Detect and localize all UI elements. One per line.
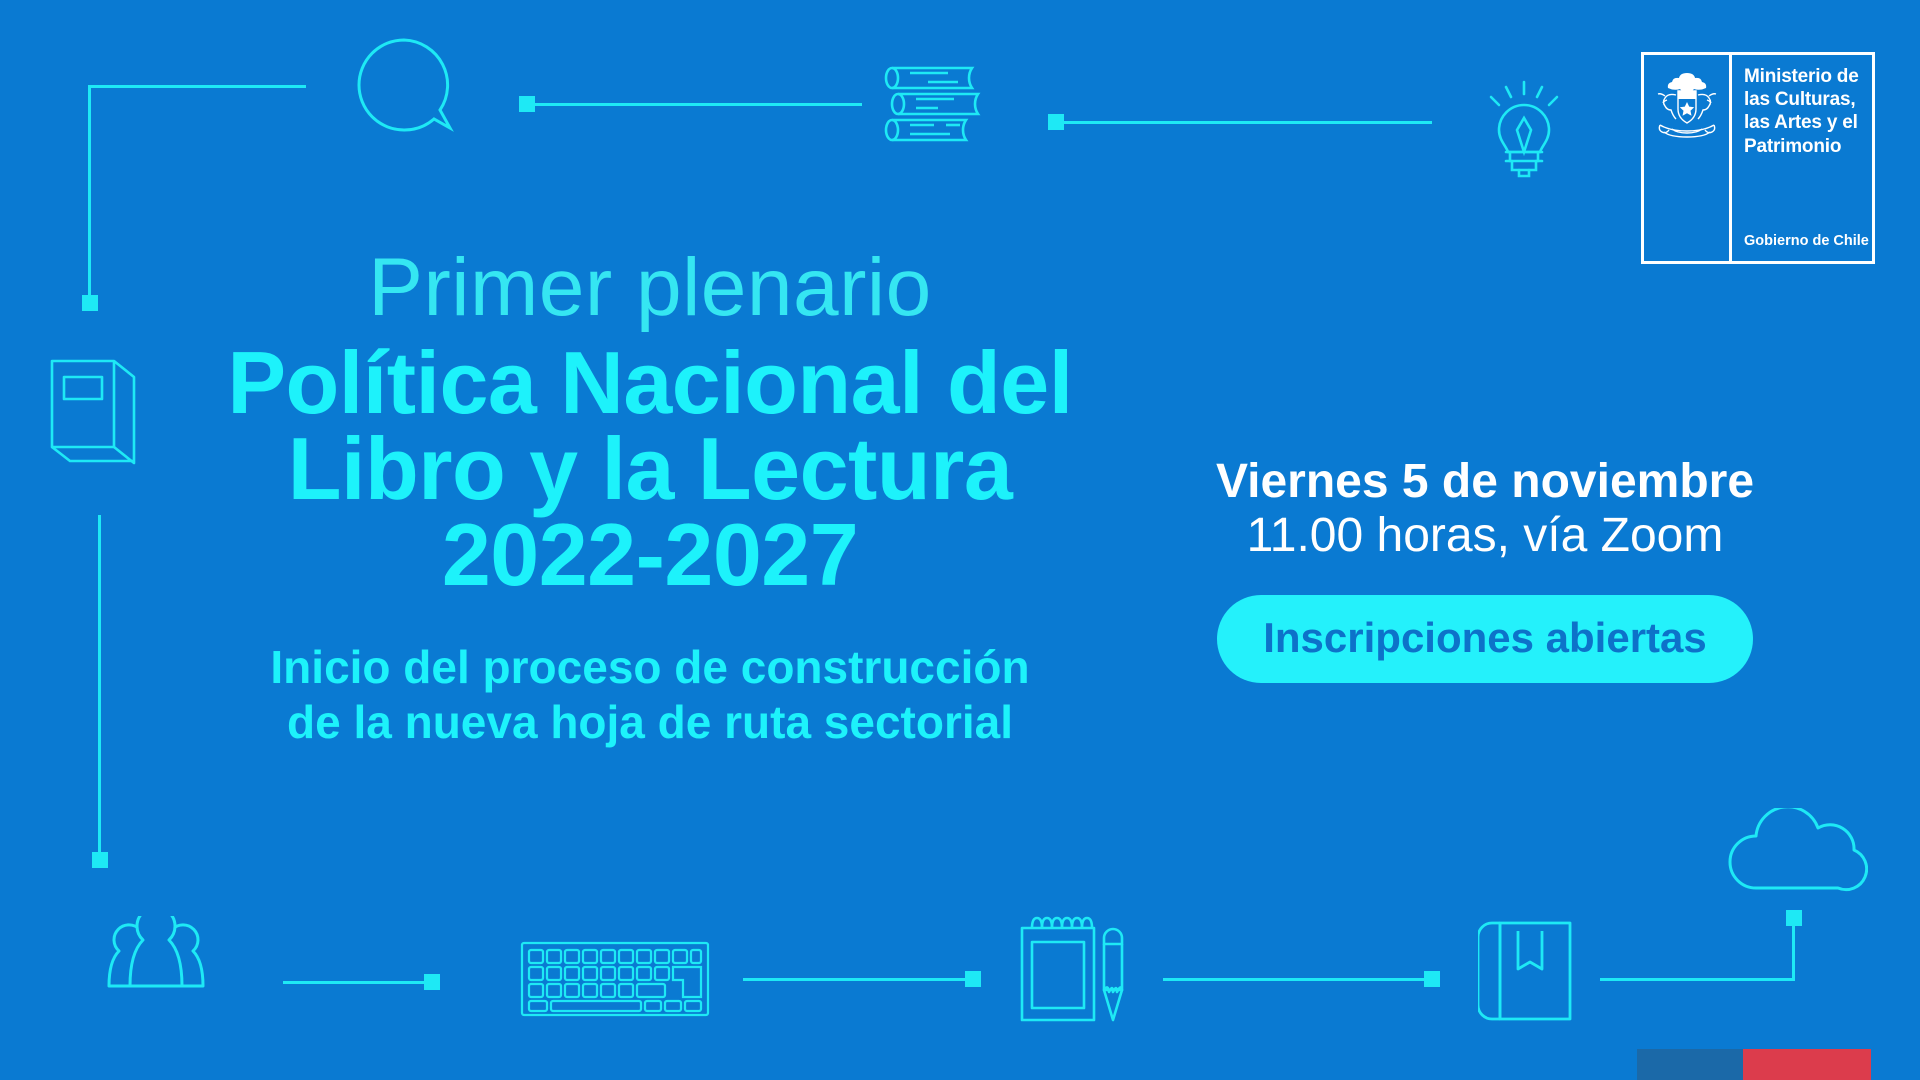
event-info-block: Viernes 5 de noviembre 11.00 horas, vía … xyxy=(1175,455,1795,683)
notepad-pencil-icon xyxy=(1018,912,1136,1026)
logo-title-line-4: Patrimonio xyxy=(1744,135,1872,158)
connector-line-notepad-to-book xyxy=(1163,978,1428,981)
connector-line-top-left xyxy=(88,85,306,88)
speech-bubble-icon xyxy=(352,36,462,146)
bookmarked-book-icon xyxy=(1478,919,1578,1023)
connector-node-people-to-keyboard xyxy=(424,974,440,990)
logo-title: Ministerio de las Culturas, las Artes y … xyxy=(1744,65,1872,158)
ministry-logo: Ministerio de las Culturas, las Artes y … xyxy=(1641,52,1875,264)
page-title-line-3: 2022-2027 xyxy=(0,512,1300,598)
connector-node-left-lower xyxy=(92,852,108,868)
eyebrow-text: Primer plenario xyxy=(0,246,1300,330)
keyboard-icon xyxy=(520,941,710,1017)
blue-stripe xyxy=(1637,1049,1743,1080)
connector-line-books-to-bulb xyxy=(1056,121,1432,124)
connector-line-people-to-keyboard xyxy=(283,981,428,984)
page-subtitle-line-1: Inicio del proceso de construcción xyxy=(0,640,1300,694)
book-stack-icon xyxy=(884,62,988,146)
logo-government-label: Gobierno de Chile xyxy=(1744,233,1872,253)
poster-canvas: Primer plenario Política Nacional del Li… xyxy=(0,0,1920,1080)
logo-text-cell: Ministerio de las Culturas, las Artes y … xyxy=(1732,55,1872,261)
connector-line-book-to-cloud xyxy=(1600,978,1795,981)
cloud-icon xyxy=(1728,808,1868,896)
connector-node-cloud xyxy=(1786,910,1802,926)
logo-title-line-1: Ministerio de xyxy=(1744,65,1872,88)
lightbulb-icon xyxy=(1481,78,1567,188)
chile-coat-of-arms-icon xyxy=(1654,69,1720,145)
connector-line-bubble-to-books xyxy=(527,103,862,106)
connector-line-cloud-drop xyxy=(1792,918,1795,981)
event-datetime: Viernes 5 de noviembre 11.00 horas, vía … xyxy=(1175,455,1795,563)
red-stripe xyxy=(1743,1049,1871,1080)
people-group-icon xyxy=(86,916,226,1008)
event-time: 11.00 horas, vía Zoom xyxy=(1175,509,1795,563)
connector-node-notepad-to-book xyxy=(1424,971,1440,987)
event-date: Viernes 5 de noviembre xyxy=(1175,455,1795,509)
headline-block: Primer plenario Política Nacional del Li… xyxy=(0,246,1300,749)
page-subtitle-line-2: de la nueva hoja de ruta sectorial xyxy=(0,695,1300,749)
page-subtitle: Inicio del proceso de construcción de la… xyxy=(0,640,1300,749)
page-title-line-1: Política Nacional del xyxy=(0,340,1300,426)
registration-button[interactable]: Inscripciones abiertas xyxy=(1217,595,1753,683)
logo-title-line-2: las Culturas, xyxy=(1744,88,1872,111)
connector-node-keyboard-to-notepad xyxy=(965,971,981,987)
logo-crest-cell xyxy=(1644,55,1732,261)
logo-title-line-3: las Artes y el xyxy=(1744,111,1872,134)
page-title-line-2: Libro y la Lectura xyxy=(0,426,1300,512)
page-title: Política Nacional del Libro y la Lectura… xyxy=(0,340,1300,599)
connector-line-keyboard-to-notepad xyxy=(743,978,968,981)
